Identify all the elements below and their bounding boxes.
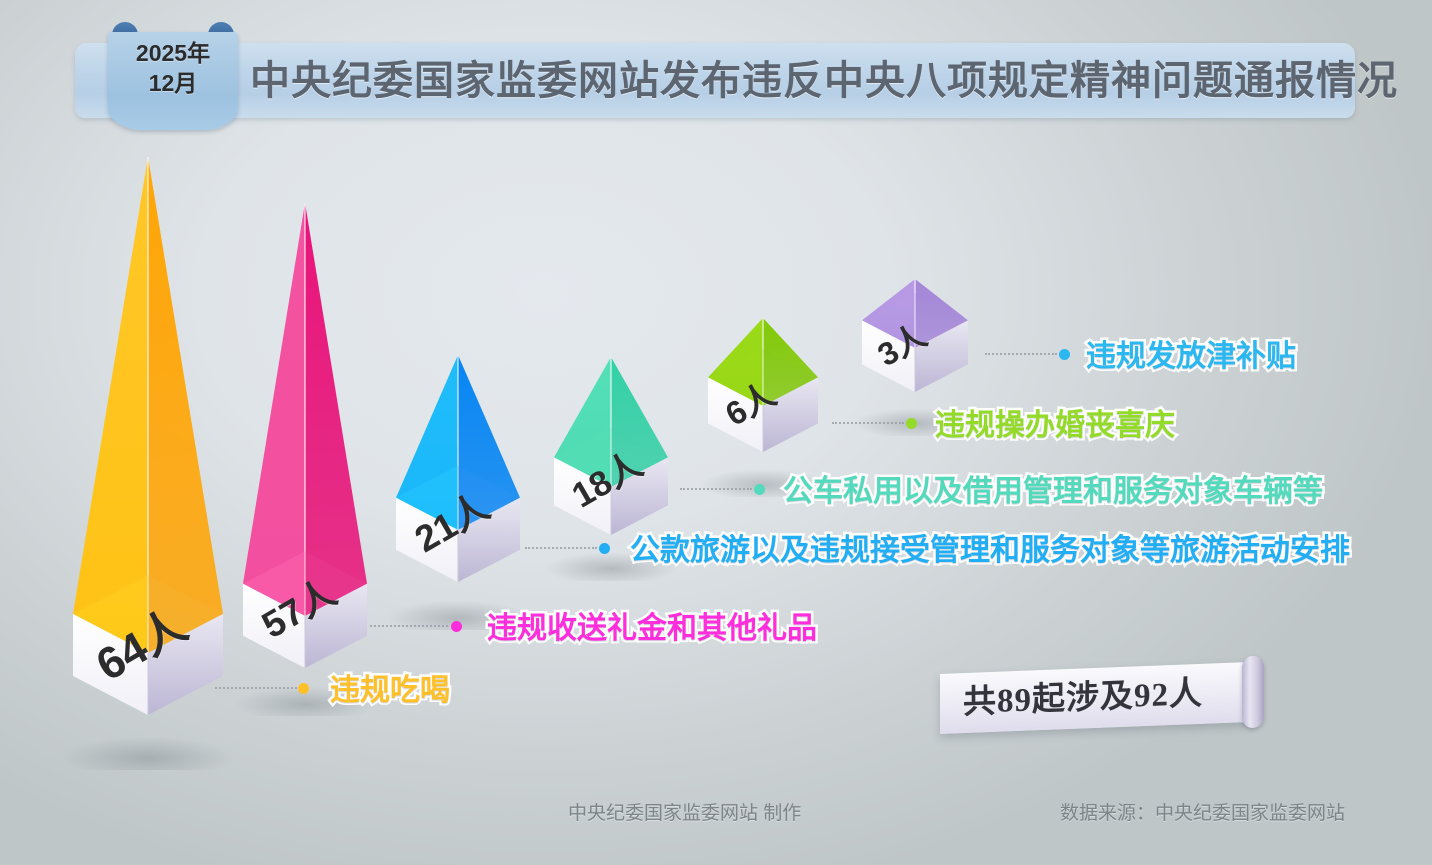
category-label: 违规收送礼金和其他礼品 <box>487 603 817 647</box>
category-label: 违规发放津补贴 <box>1086 331 1296 375</box>
column-shape <box>229 189 381 716</box>
page-title: 中央纪委国家监委网站发布违反中央八项规定精神问题通报情况 <box>250 50 1350 112</box>
leader-line <box>832 422 904 424</box>
leader-line <box>370 625 448 627</box>
footer-producer: 中央纪委国家监委网站 制作 <box>568 798 801 825</box>
calendar-date: 2025年 12月 <box>108 38 238 98</box>
category-label: 违规操办婚丧喜庆 <box>935 400 1175 444</box>
category-label: 公车私用以及借用管理和服务对象车辆等 <box>783 466 1323 510</box>
leader-dot <box>599 543 610 554</box>
calendar-year: 2025年 <box>108 38 238 68</box>
leader-line <box>215 687 297 689</box>
leader-line <box>985 353 1057 355</box>
summary-banner: 共89起涉及92人 <box>940 662 1250 734</box>
calendar-month: 12月 <box>108 68 238 98</box>
leader-dot <box>1059 349 1070 360</box>
footer-source: 数据来源：中央纪委国家监委网站 <box>1060 798 1345 825</box>
leader-dot <box>451 621 462 632</box>
leader-dot <box>906 418 917 429</box>
chart-column: 21人 <box>382 341 534 630</box>
summary-text: 共89起涉及92人 <box>940 663 1226 734</box>
scroll-roll-icon <box>1242 656 1264 729</box>
column-shape <box>59 143 237 770</box>
infographic-canvas: 2025年 12月 中央纪委国家监委网站发布违反中央八项规定精神问题通报情况 <box>0 0 1432 865</box>
leader-dot <box>754 484 765 495</box>
leader-dot <box>298 683 309 694</box>
column-shadow <box>62 737 235 770</box>
calendar-tab: 2025年 12月 <box>108 22 238 130</box>
leader-line <box>525 547 597 549</box>
chart-column: 64人 <box>59 143 237 770</box>
category-label: 违规吃喝 <box>330 665 450 709</box>
category-label: 公款旅游以及违规接受管理和服务对象等旅游活动安排 <box>630 525 1350 569</box>
leader-line <box>680 488 752 490</box>
chart-column: 57人 <box>229 189 381 716</box>
